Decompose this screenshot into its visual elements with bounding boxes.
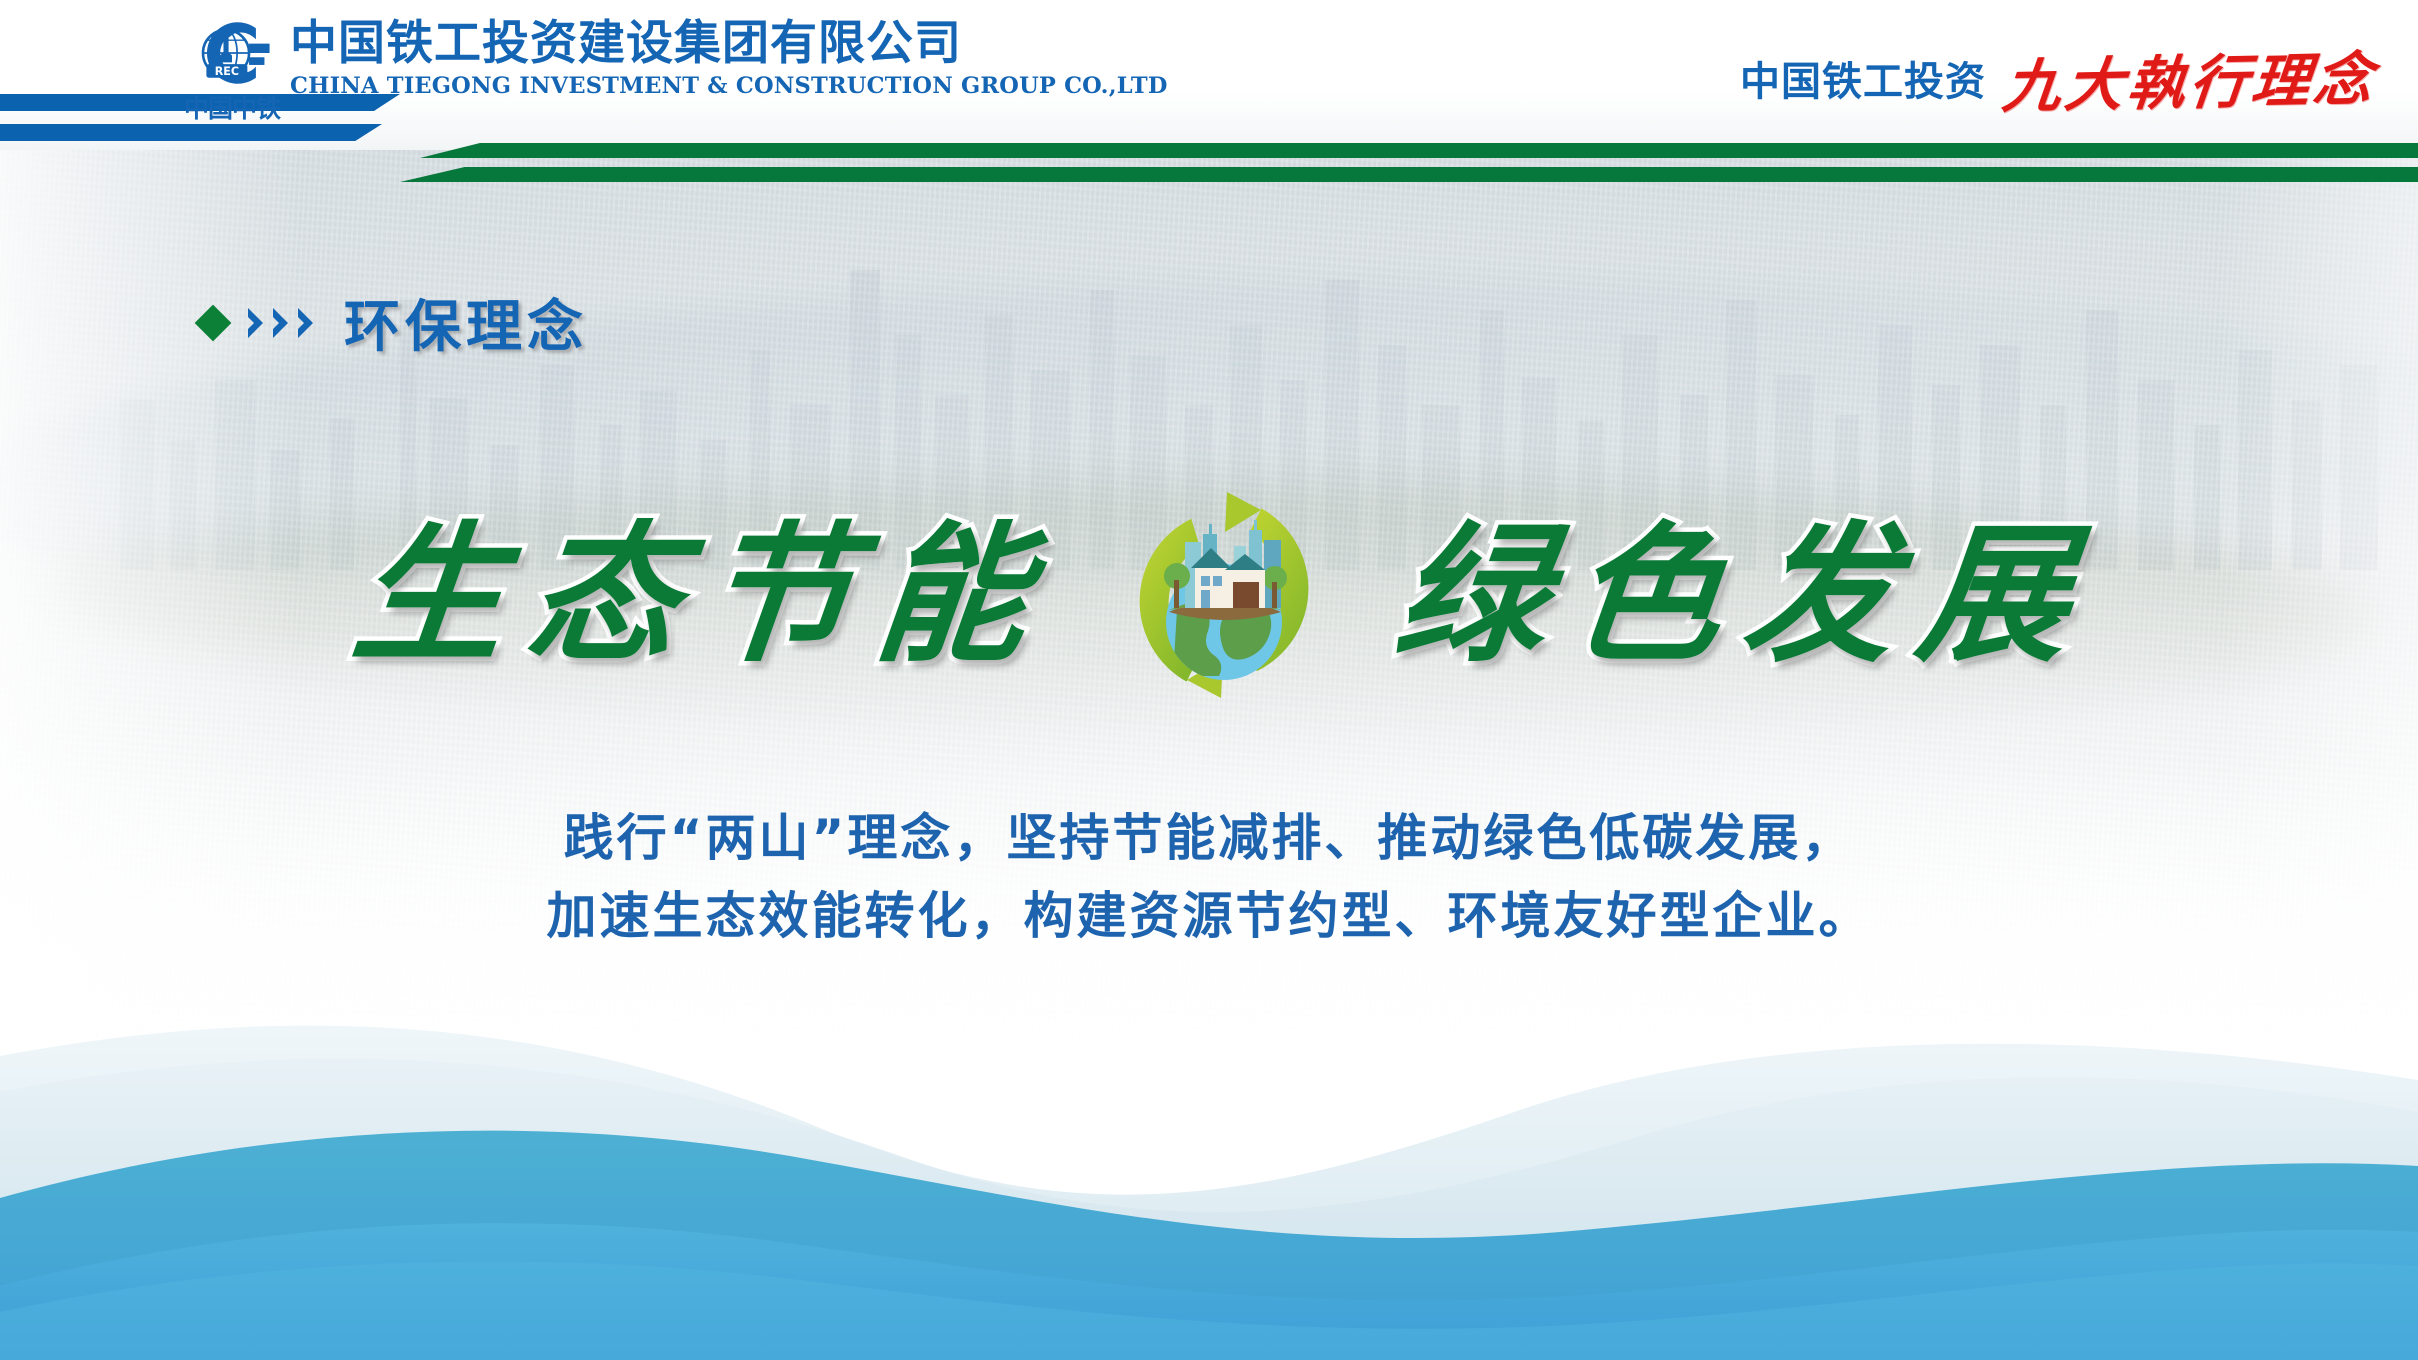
recycle-earth-city-icon — [1099, 470, 1349, 720]
header-right-red-title: 九大執行理念 — [1999, 32, 2380, 124]
company-name-block: 中国铁工投资建设集团有限公司 CHINA TIEGONG INVESTMENT … — [290, 19, 1168, 99]
main-slogan-row: 生态节能 — [0, 470, 2418, 720]
slogan-left-text: 生态节能 — [287, 520, 1059, 670]
green-diamond-icon — [195, 304, 232, 341]
section-title-group: 环保理念 — [200, 282, 588, 363]
chevron-right-icon — [270, 306, 292, 340]
crec-logo-subtext: 中国中铁 — [184, 89, 280, 125]
slide-root: REC 中国中铁 中国铁工投资建设集团有限公司 CHINA TIEGONG IN… — [0, 0, 2418, 1360]
body-line-2: 加速生态效能转化，构建资源节约型、环境友好型企业。 — [0, 878, 2418, 956]
header-green-stripe-2 — [400, 167, 2418, 182]
company-name-chinese: 中国铁工投资建设集团有限公司 — [290, 19, 1168, 69]
chevron-right-icon — [245, 306, 267, 340]
slogan-right-text: 绿色发展 — [1389, 520, 2131, 670]
header-brand-block: REC 中国中铁 中国铁工投资建设集团有限公司 CHINA TIEGONG IN… — [188, 18, 1168, 125]
crec-logo: REC 中国中铁 — [188, 18, 276, 125]
header-right-blue-text: 中国铁工投资 — [1740, 49, 1986, 107]
header-green-stripe-1 — [420, 143, 2418, 158]
chevron-group — [245, 306, 317, 340]
body-line-1: 践行“两山”理念，坚持节能减排、推动绿色低碳发展， — [0, 800, 2418, 878]
body-text-block: 践行“两山”理念，坚持节能减排、推动绿色低碳发展， 加速生态效能转化，构建资源节… — [0, 800, 2418, 955]
header-right-block: 中国铁工投资 九大執行理念 — [1740, 36, 2376, 120]
chevron-right-icon — [295, 306, 317, 340]
svg-text:REC: REC — [215, 65, 239, 78]
header-blue-stripe-2 — [0, 124, 382, 141]
page-title: 环保理念 — [344, 282, 588, 363]
company-name-english: CHINA TIEGONG INVESTMENT & CONSTRUCTION … — [290, 73, 1168, 99]
page-header: REC 中国中铁 中国铁工投资建设集团有限公司 CHINA TIEGONG IN… — [0, 0, 2418, 182]
bottom-wave-decoration — [0, 960, 2418, 1360]
crec-globe-rail-icon: REC — [189, 18, 275, 88]
